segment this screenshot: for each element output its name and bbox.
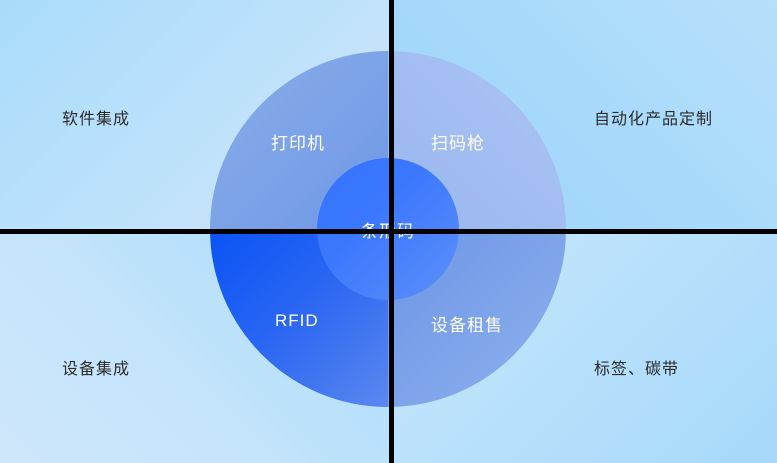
inner-label-equipment-rental[interactable]: 设备租售 (431, 311, 503, 336)
outer-label-labels-ribbons: 标签、碳带 (594, 355, 679, 379)
inner-label-printer[interactable]: 打印机 (271, 129, 325, 154)
inner-label-rfid[interactable]: RFID (275, 311, 319, 331)
horizontal-axis-line (0, 229, 777, 234)
outer-label-automation-customization: 自动化产品定制 (594, 105, 713, 129)
outer-label-device-integration: 设备集成 (62, 355, 130, 379)
inner-label-scanner[interactable]: 扫码枪 (431, 129, 485, 154)
diagram-canvas: 条形码 打印机 扫码枪 RFID 设备租售 软件集成 自动化产品定制 设备集成 … (0, 0, 777, 463)
outer-label-software-integration: 软件集成 (62, 105, 130, 129)
